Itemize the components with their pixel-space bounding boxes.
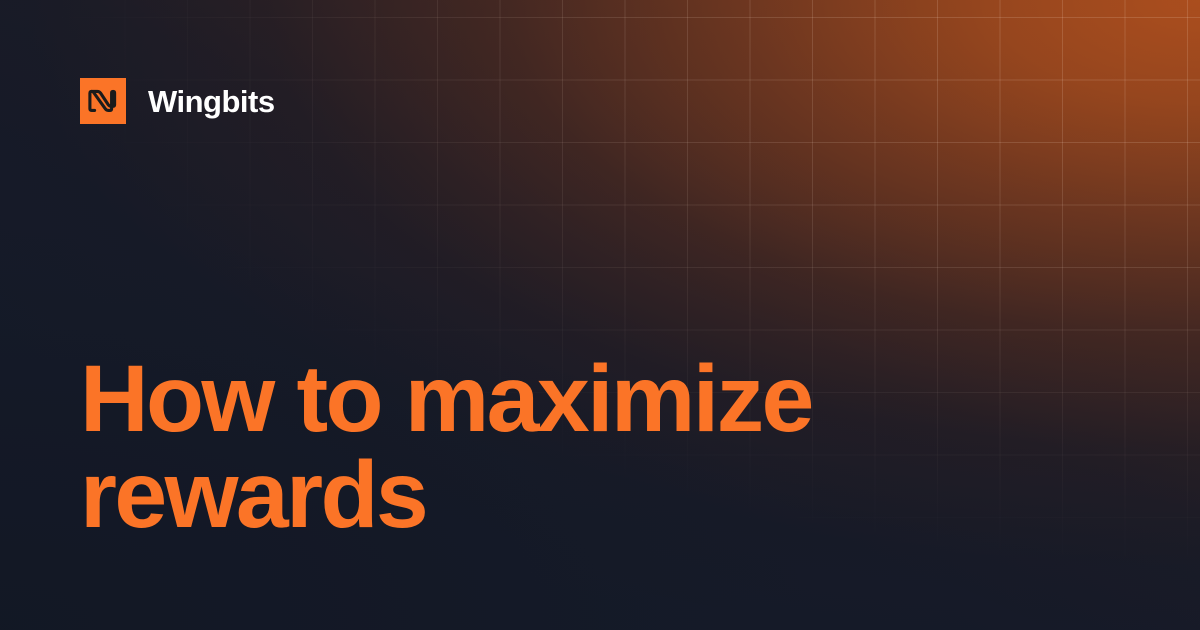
social-share-card: Wingbits How to maximize rewards bbox=[0, 0, 1200, 630]
page-title: How to maximize rewards bbox=[80, 351, 812, 543]
brand-lockup[interactable]: Wingbits bbox=[80, 78, 275, 124]
brand-wordmark: Wingbits bbox=[148, 86, 275, 117]
wingbits-logo-icon bbox=[80, 78, 126, 124]
card-content: Wingbits How to maximize rewards bbox=[0, 0, 1200, 630]
